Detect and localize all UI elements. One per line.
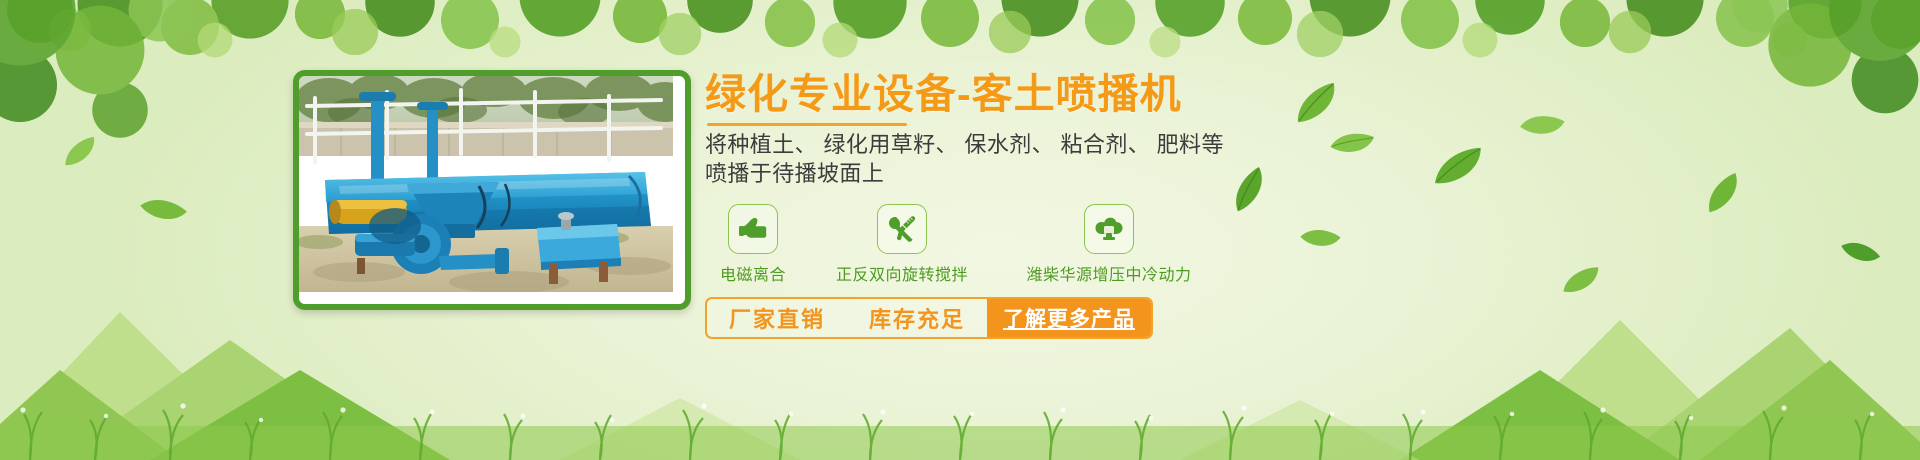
feature-label: 电磁离合 (720, 261, 786, 285)
grass-decoration (0, 340, 1920, 460)
engine-power-icon (1084, 204, 1134, 254)
feature-list: 电磁离合 (705, 204, 1305, 285)
banner-content: 绿化专业设备-客土喷播机 将种植土、 绿化用草籽、 保水剂、 粘合剂、 肥料等 … (705, 72, 1305, 339)
promo-banner: 绿化专业设备-客土喷播机 将种植土、 绿化用草籽、 保水剂、 粘合剂、 肥料等 … (0, 0, 1920, 460)
thumbs-up-icon (728, 204, 778, 254)
cta-tag-factory-direct: 厂家直销 (707, 299, 847, 337)
foliage-corner-left-decoration (0, 0, 300, 160)
floating-leaf-icon (1427, 145, 1488, 188)
title-underline-rule (707, 123, 907, 126)
product-photo-frame[interactable] (293, 70, 691, 310)
feature-item-bidirectional-mixing[interactable]: 正反双向旋转搅拌 (809, 204, 995, 285)
cta-bar: 厂家直销 库存充足 了解更多产品 (705, 297, 1153, 339)
floating-leaf-icon (1696, 170, 1749, 216)
cta-tag-in-stock: 库存充足 (847, 299, 987, 337)
feature-item-electromagnetic-clutch[interactable]: 电磁离合 (705, 204, 801, 285)
feature-label: 潍柴华源增压中冷动力 (1026, 261, 1191, 285)
page-title: 绿化专业设备-客土喷播机 (705, 72, 1305, 116)
foliage-corner-right-decoration (1650, 0, 1920, 140)
feature-item-weichai-power[interactable]: 潍柴华源增压中冷动力 (1003, 204, 1215, 285)
product-photo (299, 76, 685, 304)
subtitle-line-1: 将种植土、 绿化用草籽、 保水剂、 粘合剂、 肥料等 (705, 131, 1305, 160)
feature-label: 正反双向旋转搅拌 (836, 261, 968, 285)
learn-more-button[interactable]: 了解更多产品 (987, 299, 1151, 337)
wrench-screwdriver-icon (877, 204, 927, 254)
subtitle-line-2: 喷播于待播坡面上 (705, 160, 1305, 189)
floating-leaf-icon (1328, 125, 1377, 161)
